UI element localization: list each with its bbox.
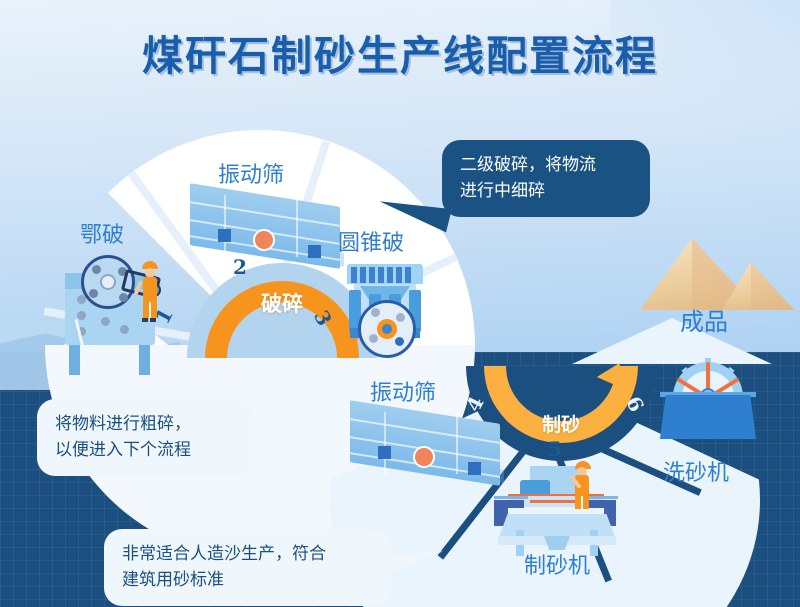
vibrating-screen-icon-bottom bbox=[350, 412, 510, 492]
step-label-sand-washer: 洗砂机 bbox=[663, 455, 729, 487]
product-label: 成品 bbox=[680, 302, 728, 337]
callout-secondary-crushing: 二级破碎，将物流 进行中细碎 bbox=[442, 140, 650, 217]
step-label-cone-crusher: 圆锥破 bbox=[338, 225, 404, 257]
step-number-5: 5 bbox=[548, 437, 562, 461]
callout-artificial-sand: 非常适合人造沙生产，符合 建筑用砂标准 bbox=[104, 529, 392, 606]
sand-washer-icon bbox=[655, 362, 765, 454]
step-label-jaw-crusher: 鄂破 bbox=[80, 217, 124, 249]
worker-figure-jaw bbox=[138, 261, 164, 325]
worker-figure-sandmaker bbox=[571, 461, 595, 511]
step-label-vibrating-screen-top: 振动筛 bbox=[218, 157, 284, 189]
callout-coarse-crushing: 将物料进行粗碎， 以便进入下个流程 bbox=[37, 399, 252, 476]
sand-making-machine-icon bbox=[494, 462, 624, 552]
infographic-canvas: 煤矸石制砂生产线配置流程 破碎 制砂 1 2 3 4 5 6 bbox=[0, 0, 800, 607]
vibrating-screen-icon-top bbox=[190, 195, 350, 275]
step-label-sand-making-machine: 制砂机 bbox=[524, 548, 590, 580]
sand-pile-icon bbox=[640, 230, 790, 310]
step-label-vibrating-screen-bottom: 振动筛 bbox=[370, 375, 436, 407]
cone-crusher-icon bbox=[337, 264, 437, 360]
